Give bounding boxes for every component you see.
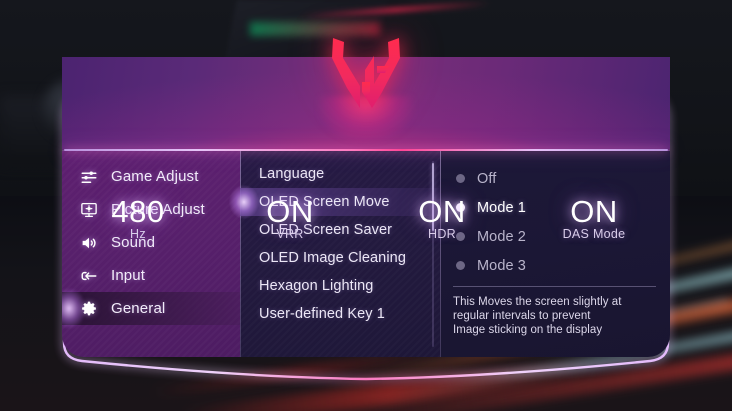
status-label: HDR — [428, 228, 456, 241]
status-value: ON — [418, 196, 466, 227]
status-label: DAS Mode — [563, 228, 626, 241]
header-divider — [64, 149, 668, 151]
status-das-mode: ON DAS Mode — [518, 57, 670, 357]
status-value: ON — [266, 196, 314, 227]
status-label: VRR — [276, 228, 303, 241]
status-value: 480 — [111, 196, 164, 227]
status-label: Hz — [130, 228, 146, 241]
lg-ultragear-logo — [329, 36, 403, 114]
status-value: ON — [570, 196, 618, 227]
background-monitor-glow — [250, 22, 380, 36]
status-refresh-rate: 480 Hz — [62, 57, 214, 357]
